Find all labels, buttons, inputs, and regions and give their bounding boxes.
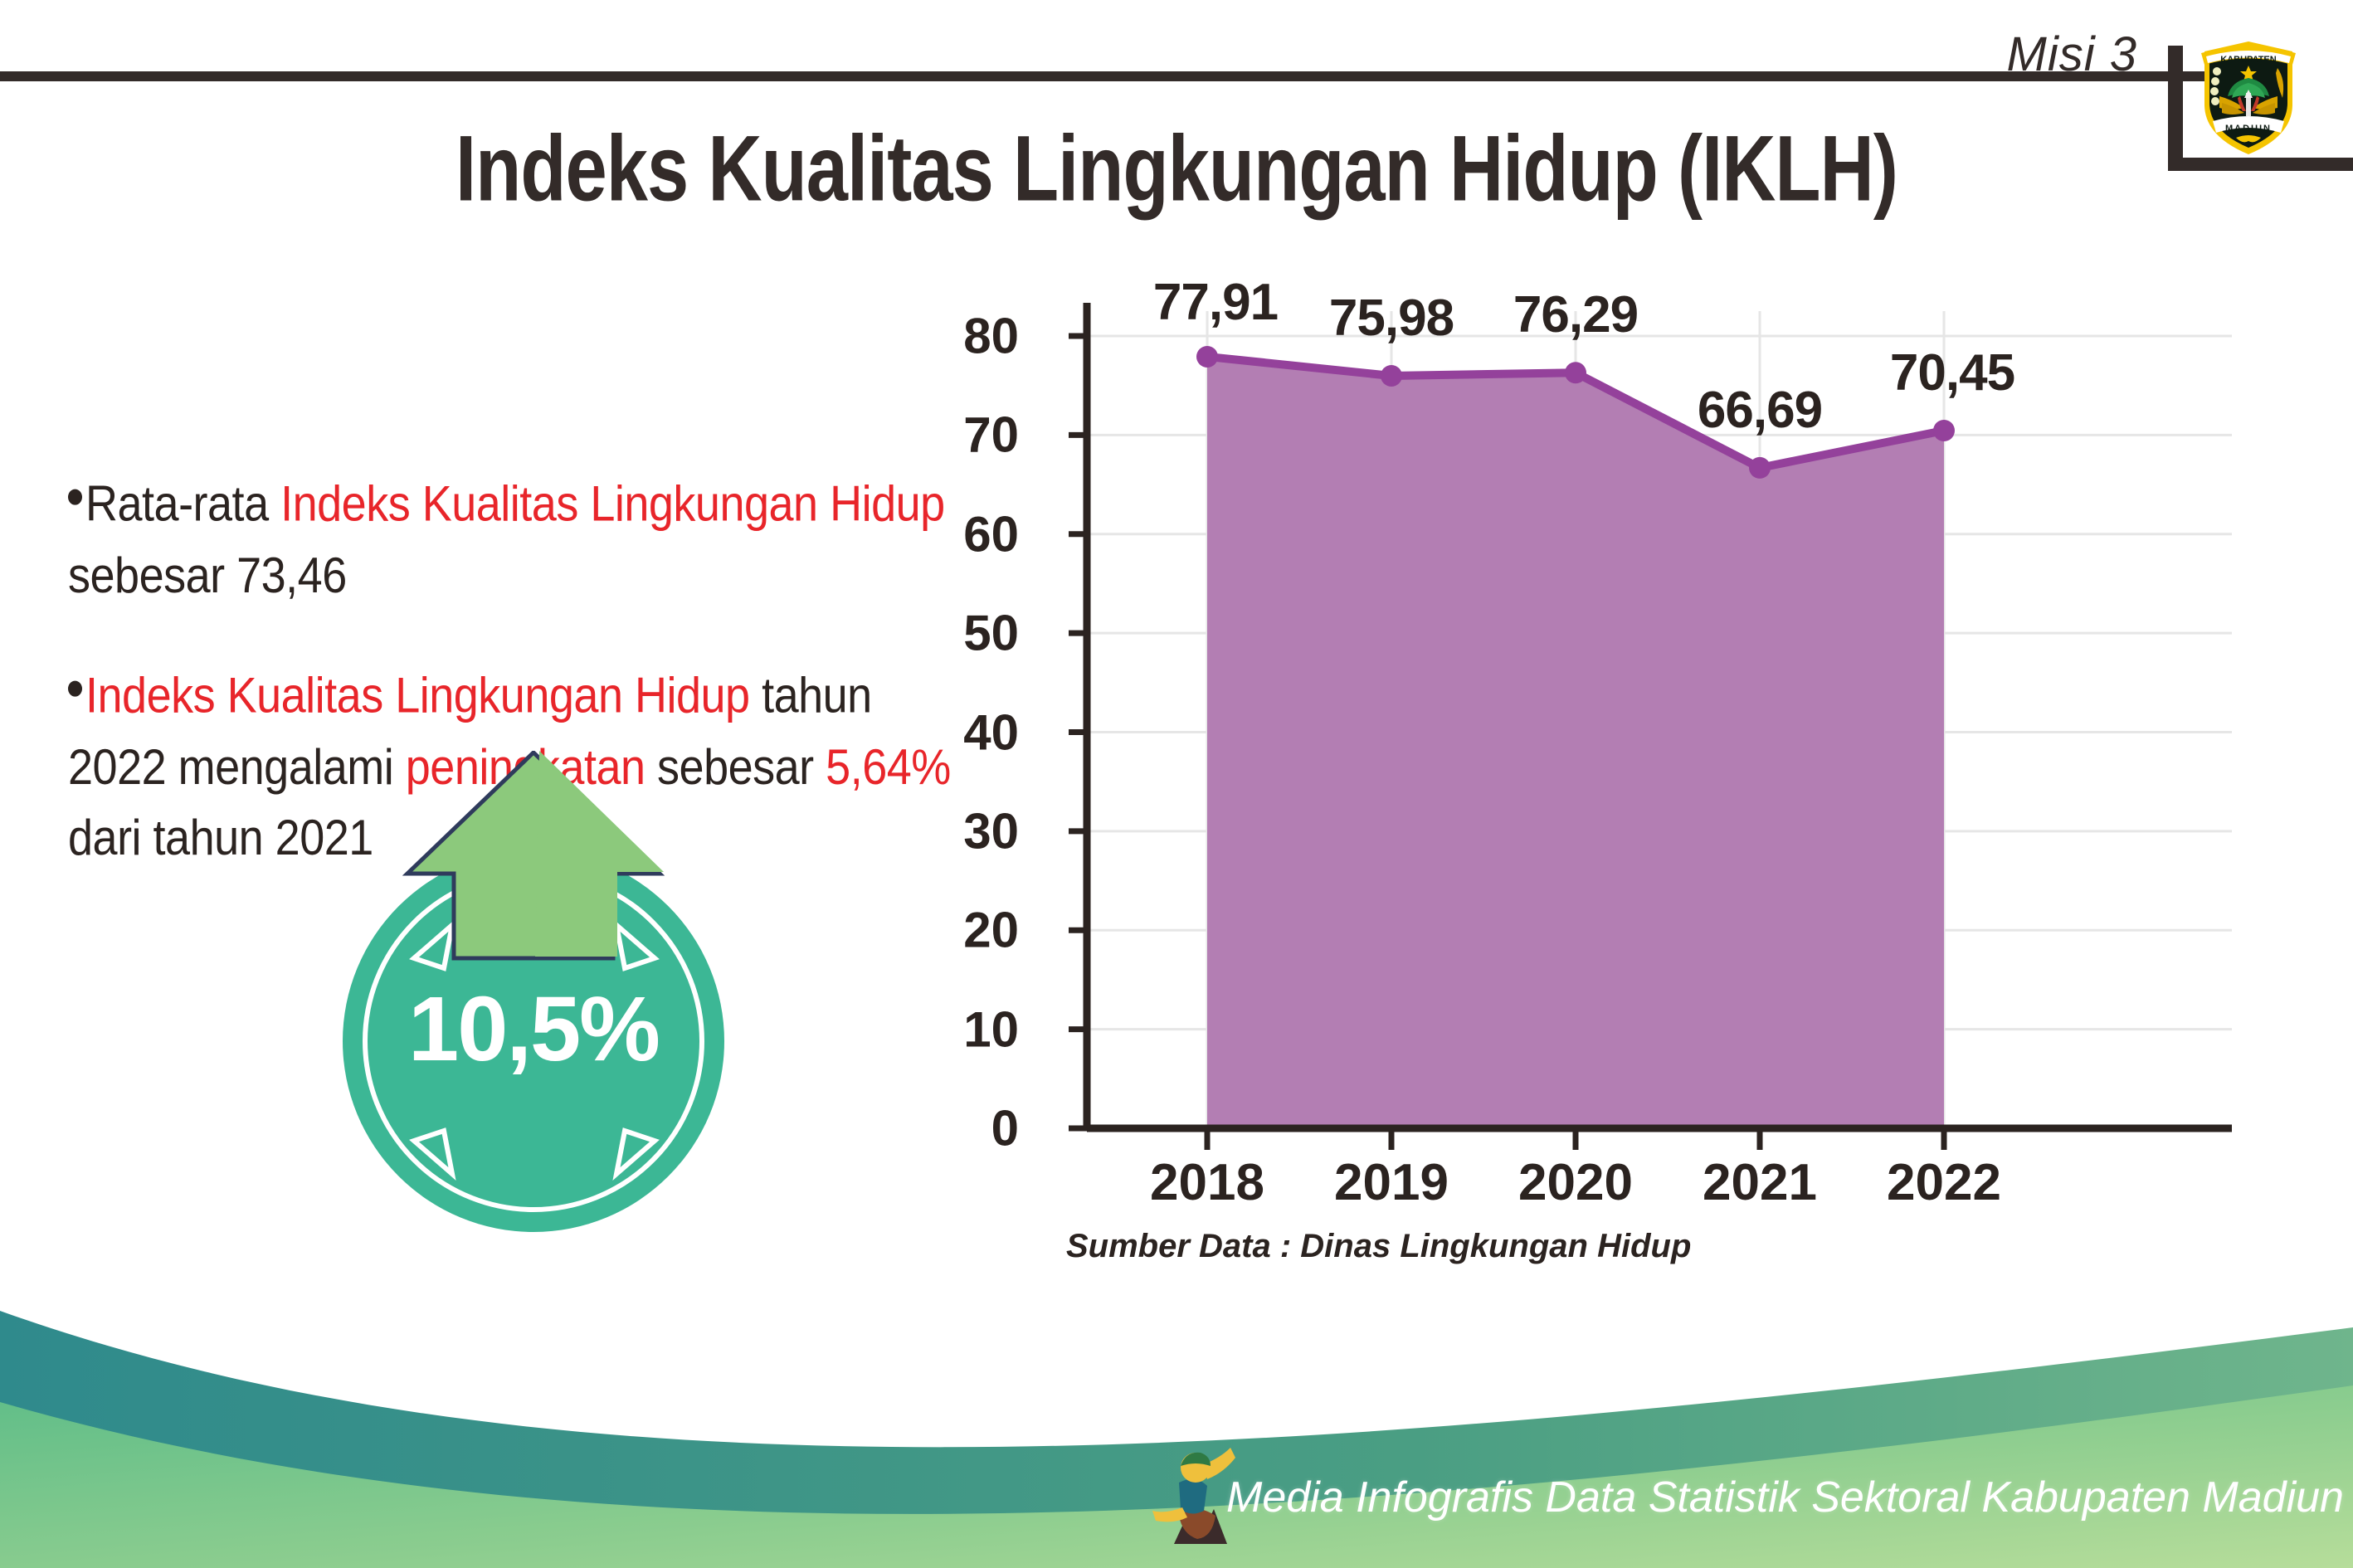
x-tick-label: 2021 bbox=[1677, 1153, 1843, 1212]
bullet-1-seg-1: Rata-rata bbox=[85, 476, 280, 532]
y-tick-label: 50 bbox=[919, 605, 1019, 662]
x-tick-label: 2022 bbox=[1861, 1153, 2027, 1212]
increase-badge: 10,5% bbox=[328, 751, 759, 1224]
data-point-label: 76,29 bbox=[1513, 285, 1638, 344]
footer-caption: Media Infografis Data Statistik Sektoral… bbox=[1226, 1473, 2353, 1522]
bullet-1-seg-2: Indeks Kualitas Lingkungan Hidup bbox=[280, 476, 945, 532]
data-point-label: 77,91 bbox=[1153, 273, 1278, 332]
badge-value: 10,5% bbox=[343, 976, 724, 1082]
y-tick-label: 20 bbox=[919, 902, 1019, 959]
bullet-2-seg-1: Indeks Kualitas Lingkungan Hidup bbox=[85, 668, 750, 723]
y-tick-label: 30 bbox=[919, 802, 1019, 859]
infographic-page: Misi 3 KABUPATEN MADIU bbox=[0, 0, 2353, 1568]
x-tick-label: 2020 bbox=[1493, 1153, 1659, 1212]
data-point-label: 75,98 bbox=[1329, 289, 1454, 348]
chart-canvas bbox=[954, 274, 2273, 1269]
source-note: Sumber Data : Dinas Lingkungan Hidup bbox=[1066, 1228, 1691, 1265]
y-tick-label: 40 bbox=[919, 704, 1019, 761]
emblem-top-label: KABUPATEN bbox=[2220, 55, 2276, 65]
y-tick-label: 10 bbox=[919, 1001, 1019, 1058]
data-point-label: 66,69 bbox=[1698, 381, 1822, 440]
x-tick-label: 2018 bbox=[1124, 1153, 1290, 1212]
y-tick-label: 80 bbox=[919, 308, 1019, 365]
y-tick-label: 70 bbox=[919, 407, 1019, 464]
bullet-1-seg-3: sebesar 73,46 bbox=[68, 548, 347, 603]
iklh-area-chart: 01020304050607080 20182019202020212022 7… bbox=[954, 274, 2273, 1269]
list-item: Rata-rata Indeks Kualitas Lingkungan Hid… bbox=[68, 469, 964, 611]
data-point-label: 70,45 bbox=[1890, 343, 2014, 402]
x-tick-label: 2019 bbox=[1308, 1153, 1474, 1212]
page-title: Indeks Kualitas Lingkungan Hidup (IKLH) bbox=[59, 116, 2294, 223]
header-rule bbox=[0, 71, 2220, 81]
bullet-dot-icon bbox=[68, 489, 82, 504]
y-tick-label: 60 bbox=[919, 505, 1019, 562]
misi-label: Misi 3 bbox=[2007, 27, 2137, 82]
bullet-dot-icon bbox=[68, 681, 82, 697]
y-tick-label: 0 bbox=[919, 1100, 1019, 1157]
